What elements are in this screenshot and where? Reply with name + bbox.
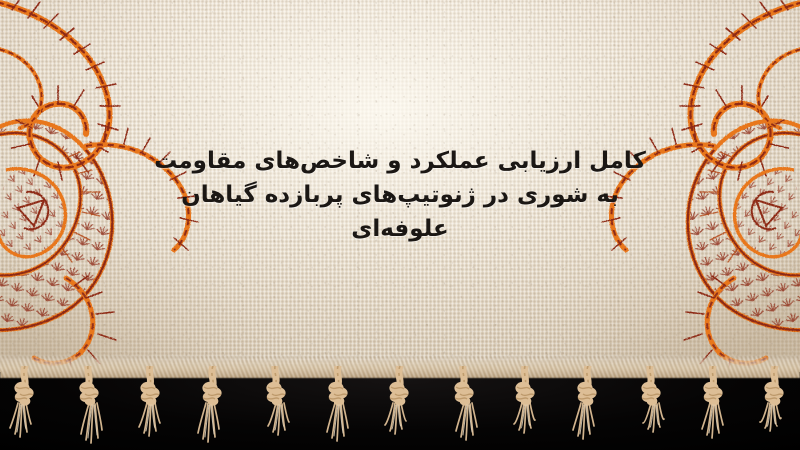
- tassel: [315, 366, 361, 450]
- tassel: [627, 366, 673, 450]
- tassel: [252, 366, 298, 450]
- title-line-1: کامل ارزیابی عملکرد و شاخص‌های مقاومت: [0, 144, 800, 178]
- title-line-3: علوفه‌ای: [0, 212, 800, 246]
- tassel: [690, 366, 736, 450]
- title-slide: کامل ارزیابی عملکرد و شاخص‌های مقاومت به…: [0, 0, 800, 450]
- tassel: [502, 366, 548, 450]
- tassel: [190, 366, 236, 450]
- tassel: [377, 366, 423, 450]
- page-title: کامل ارزیابی عملکرد و شاخص‌های مقاومت به…: [0, 144, 800, 246]
- tassel: [2, 366, 48, 450]
- tassel: [565, 366, 611, 450]
- tassel: [752, 366, 798, 450]
- knotted-tassel-fringe: [0, 366, 800, 450]
- tassel: [127, 366, 173, 450]
- tassel: [440, 366, 486, 450]
- title-line-2: به شوری در ژنوتیپ‌های پربازده گیاهان: [0, 178, 800, 212]
- tassel: [65, 366, 111, 450]
